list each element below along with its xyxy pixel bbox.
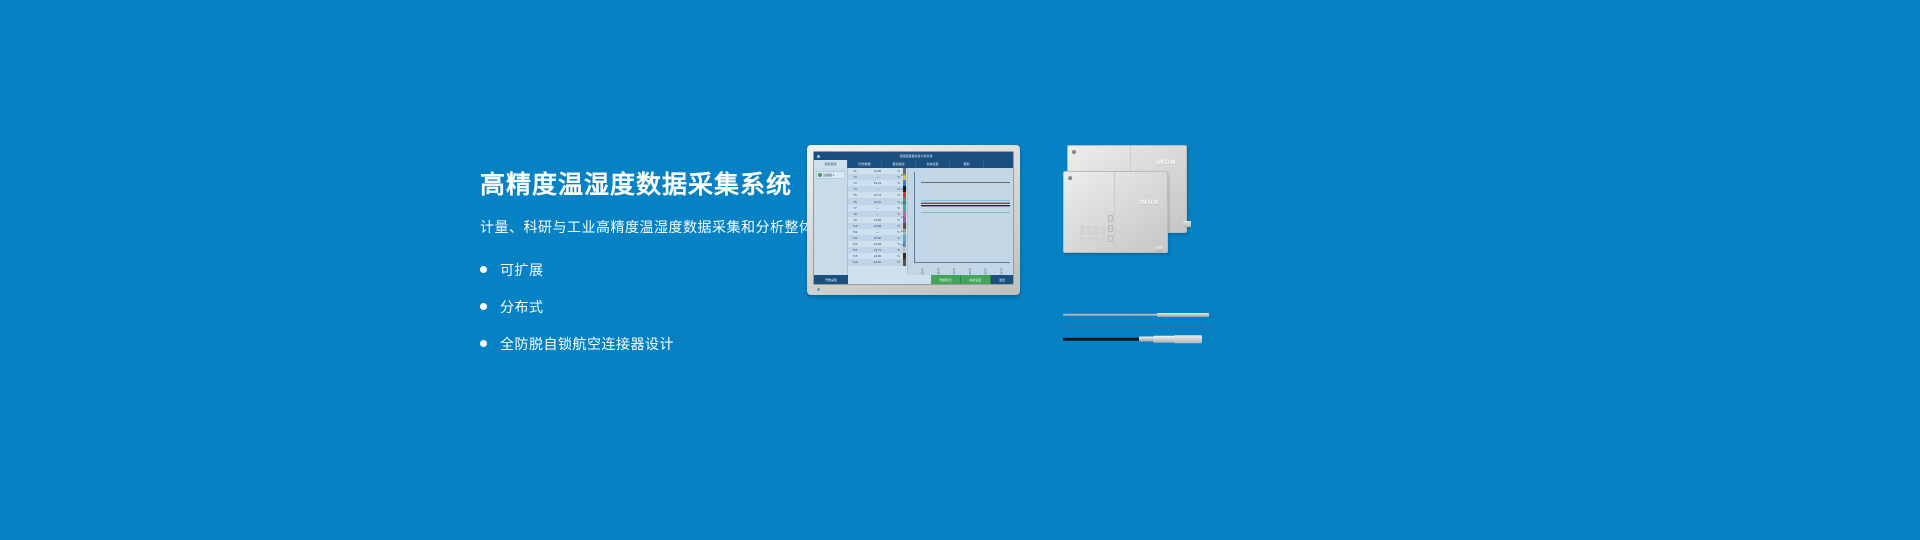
channel-value: --- — [861, 212, 894, 216]
channel-id: T9 — [849, 218, 861, 222]
probe-shaft — [1063, 314, 1159, 316]
channel-value: 24.61 — [861, 200, 894, 204]
series-color-swatch — [903, 259, 906, 265]
channel-id: T10 — [849, 224, 861, 228]
channel-value: 24.90 — [861, 236, 894, 240]
chart-y-axis — [914, 172, 915, 263]
channel-value: --- — [861, 230, 894, 234]
channel-value: --- — [861, 175, 894, 179]
probe-body — [1174, 335, 1202, 343]
device-online-icon — [818, 173, 822, 177]
port-cluster-icon — [1108, 215, 1113, 242]
channel-unit: °C — [894, 224, 903, 228]
channel-value: 21.85 — [861, 169, 894, 173]
channel-id: T6 — [849, 200, 861, 204]
app-title: 温湿度数据采集分析系统 — [822, 154, 1010, 158]
channel-id: T4 — [849, 187, 861, 191]
sensor-probe-group — [1063, 312, 1213, 352]
monitor-screen-frame: 温湿度数据采集分析系统 实时监测 历史数据 报表输出 系统设置 帮助 设备组 1 — [813, 151, 1014, 285]
brand-label: INON — [1139, 200, 1159, 206]
channel-value: --- — [861, 187, 894, 191]
chart-y-tick: 24 — [901, 216, 904, 219]
window-menu-icon[interactable] — [817, 155, 820, 158]
probe-cable — [1063, 338, 1141, 341]
tab-bar: 实时监测 历史数据 报表输出 系统设置 帮助 — [814, 160, 1013, 168]
channel-value: 24.72 — [861, 193, 894, 197]
tab-realtime[interactable]: 实时监测 — [814, 160, 848, 168]
channel-value: 24.90 — [861, 218, 894, 222]
channel-id: T1 — [849, 169, 861, 173]
channel-value: 24.73 — [861, 248, 894, 252]
channel-id: T16 — [849, 260, 861, 264]
probe-ferrule — [1139, 337, 1153, 342]
start-acquisition-button[interactable]: 开始采集 — [814, 275, 848, 284]
probe-connector — [1153, 336, 1175, 343]
software-screen: 温湿度数据采集分析系统 实时监测 历史数据 报表输出 系统设置 帮助 设备组 1 — [814, 152, 1013, 284]
connector-port — [1183, 221, 1191, 227]
connector-port — [1155, 246, 1163, 252]
chart-series-line — [921, 206, 1010, 207]
channel-id: T14 — [849, 248, 861, 252]
chart-x-tick: 12:00 — [984, 268, 987, 275]
brand-label: INON — [1156, 160, 1176, 166]
channel-id: T7 — [849, 206, 861, 210]
table-row[interactable]: T1624.94°C — [848, 259, 907, 265]
chart-x-tick: 10:30 — [936, 268, 939, 275]
channel-unit: °C — [894, 193, 903, 197]
screw-icon — [1068, 176, 1072, 180]
list-item: 全防脱自锁航空连接器设计 — [480, 334, 1040, 354]
chart-x-tick: 12:30 — [999, 268, 1002, 275]
device-tree-node[interactable]: 设备组 1 — [816, 171, 845, 179]
channel-unit: °C — [894, 254, 903, 258]
device-tree-panel: 设备组 1 — [814, 168, 848, 275]
app-titlebar: 温湿度数据采集分析系统 — [814, 152, 1013, 160]
chart-series-line — [921, 182, 1010, 183]
channel-value: 24.88 — [861, 224, 894, 228]
chart-x-tick: 11:30 — [968, 268, 971, 274]
curve-settings-button[interactable]: 曲线设置 — [961, 275, 991, 284]
chart-y-tick: 24.5 — [901, 202, 906, 205]
channel-id: T3 — [849, 181, 861, 185]
panel-seam — [1114, 172, 1115, 252]
feature-label: 可扩展 — [500, 260, 544, 280]
channel-unit: °C — [894, 181, 903, 185]
channel-table[interactable]: T121.85°CT2---°CT324.19°CT4---°CT524.72°… — [848, 168, 908, 275]
data-logger-group: INON INON — [1063, 143, 1208, 298]
chart-y-tick: 23.5 — [901, 230, 906, 233]
bullet-dot-icon — [480, 266, 487, 273]
channel-value: 24.90 — [861, 254, 894, 258]
channel-value: --- — [861, 206, 894, 210]
chart-y-tick: 23 — [901, 244, 904, 247]
channel-unit: °C — [894, 206, 903, 210]
channel-unit: °C — [894, 236, 903, 240]
channel-unit: °C — [894, 248, 903, 252]
feature-label: 全防脱自锁航空连接器设计 — [500, 334, 674, 354]
tab-history[interactable]: 历史数据 — [848, 160, 882, 168]
monitor-bezel: 温湿度数据采集分析系统 实时监测 历史数据 报表输出 系统设置 帮助 设备组 1 — [807, 145, 1020, 295]
chart-y-tick: 25 — [901, 188, 904, 191]
chart-x-axis — [914, 262, 1010, 263]
data-logger-front-unit: INON — [1063, 171, 1168, 253]
channel-unit: °C — [894, 260, 903, 264]
channel-id: T8 — [849, 212, 861, 216]
rigid-temperature-probe — [1063, 312, 1213, 318]
tab-settings[interactable]: 系统设置 — [916, 160, 950, 168]
export-data-button[interactable]: 数据导出 — [931, 275, 961, 284]
footer-spacer — [848, 275, 931, 284]
flexible-blue-probe — [1063, 324, 1213, 330]
list-item: 分布式 — [480, 297, 1040, 317]
bullet-dot-icon — [480, 340, 487, 347]
channel-id: T15 — [849, 254, 861, 258]
channel-unit: °C — [894, 169, 903, 173]
tab-help[interactable]: 帮助 — [950, 160, 984, 168]
device-tree-label: 设备组 1 — [823, 173, 835, 177]
app-body: 设备组 1 T121.85°CT2---°CT324.19°CT4---°CT5… — [814, 168, 1013, 275]
tab-report[interactable]: 报表输出 — [882, 160, 916, 168]
channel-value: 24.94 — [861, 260, 894, 264]
channel-id: T13 — [849, 242, 861, 246]
chart-series-line — [921, 212, 1010, 213]
chart-x-tick: 11:00 — [952, 268, 955, 274]
channel-id: T2 — [849, 175, 861, 179]
feature-label: 分布式 — [500, 297, 544, 317]
exit-button[interactable]: 退出 — [991, 275, 1013, 284]
chart-x-tick: 10:00 — [921, 268, 924, 275]
keypad-icon — [1080, 226, 1105, 241]
channel-id: T12 — [849, 236, 861, 240]
probe-tip — [1157, 313, 1209, 317]
trend-chart: 25.52524.52423.52310:0010:3011:0011:3012… — [908, 168, 1013, 275]
app-footer: 开始采集 数据导出 曲线设置 退出 — [814, 275, 1013, 284]
channel-id: T5 — [849, 193, 861, 197]
channel-value: 24.19 — [861, 181, 894, 185]
screw-icon — [1072, 150, 1076, 154]
monitor-chin — [807, 284, 1020, 295]
industrial-panel-monitor: 温湿度数据采集分析系统 实时监测 历史数据 报表输出 系统设置 帮助 设备组 1 — [807, 145, 1020, 295]
power-led-icon — [817, 288, 820, 291]
probe-cable — [1063, 326, 1211, 328]
bullet-dot-icon — [480, 303, 487, 310]
chart-y-tick: 25.5 — [901, 174, 906, 177]
channel-value: 24.28 — [861, 242, 894, 246]
channel-id: T11 — [849, 230, 861, 234]
black-cable-probe — [1063, 336, 1213, 342]
